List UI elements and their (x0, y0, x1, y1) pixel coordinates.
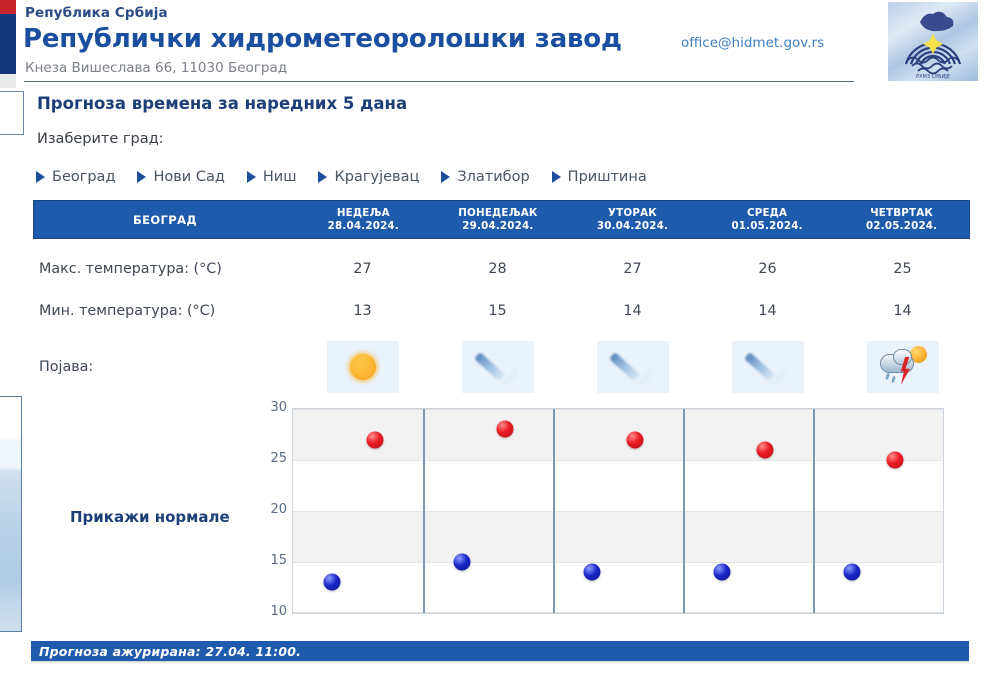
city-label: Београд (52, 169, 115, 185)
row-label: Макс. температура: (°C) (33, 261, 295, 277)
max-temp-value-1: 28 (430, 261, 565, 277)
chart-y-tick-label: 10 (259, 604, 287, 619)
arrow-right-icon (441, 171, 450, 183)
arrow-right-icon (318, 171, 327, 183)
min-temp-point-3 (714, 564, 731, 581)
day-date: 01.05.2024. (700, 220, 835, 233)
arrow-shaft (743, 352, 774, 381)
phenomena-cell-0 (295, 341, 430, 393)
city-link-novi-sad[interactable]: Нови Сад (137, 169, 224, 185)
min-temp-point-2 (584, 564, 601, 581)
raindrop-glyph (884, 373, 889, 381)
min-temp-value-2: 14 (565, 303, 700, 319)
diagonal-arrow-glyph (609, 347, 657, 387)
forecast-table: БЕОГРАД НЕДЕЉА 28.04.2024. ПОНЕДЕЉАК 29.… (33, 200, 970, 397)
page-title: Прогноза времена за наредних 5 дана (37, 94, 407, 113)
row-label: Мин. температура: (°C) (33, 303, 295, 319)
chart-y-tick-label: 30 (259, 400, 287, 415)
temperature-chart: 3025201510 (292, 408, 944, 614)
city-link-beograd[interactable]: Београд (36, 169, 115, 185)
diagonal-arrow-glyph (474, 347, 522, 387)
city-label: Златибор (457, 169, 529, 185)
thunderstorm-glyph (877, 345, 929, 389)
chart-day-separator (813, 409, 815, 613)
diagonal-arrow-glyph (744, 347, 792, 387)
table-row-min-temp: Мин. температура: (°C) 13 15 14 14 14 (33, 291, 970, 331)
max-temp-point-4 (886, 452, 903, 469)
day-header-4: ЧЕТВРТАК 02.05.2024. (834, 207, 969, 232)
arrow-right-icon (552, 171, 561, 183)
day-date: 28.04.2024. (296, 220, 431, 233)
loading-placeholder-icon (732, 341, 804, 393)
header-divider (24, 81, 854, 82)
min-temp-value-3: 14 (700, 303, 835, 319)
chart-day-separator (423, 409, 425, 613)
city-label: Приштина (568, 169, 647, 185)
thunderstorm-with-sun-icon (867, 341, 939, 393)
sun-glyph (350, 354, 376, 380)
day-name: ЧЕТВРТАК (834, 207, 969, 220)
table-city-header: БЕОГРАД (34, 213, 296, 227)
table-row-phenomena: Појава: (33, 337, 970, 397)
min-temp-point-4 (844, 564, 861, 581)
svg-text:РХМЗ СРБИЈЕ: РХМЗ СРБИЈЕ (916, 74, 950, 80)
day-name: УТОРАК (565, 207, 700, 220)
day-date: 30.04.2024. (565, 220, 700, 233)
day-header-2: УТОРАК 30.04.2024. (565, 207, 700, 232)
city-label: Ниш (263, 169, 297, 185)
day-header-1: ПОНЕДЕЉАК 29.04.2024. (431, 207, 566, 232)
max-temp-point-2 (626, 431, 643, 448)
max-temp-value-3: 26 (700, 261, 835, 277)
arrow-shaft (608, 352, 639, 381)
chart-day-separator (683, 409, 685, 613)
max-temp-point-1 (496, 421, 513, 438)
row-label: Појава: (33, 359, 295, 375)
max-temp-value-4: 25 (835, 261, 970, 277)
loading-placeholder-icon (597, 341, 669, 393)
max-temp-value-2: 27 (565, 261, 700, 277)
sunny-icon (327, 341, 399, 393)
choose-city-label: Изаберите град: (37, 131, 164, 147)
chart-gridline (293, 460, 943, 461)
contact-email-link[interactable]: office@hidmet.gov.rs (681, 35, 824, 51)
chart-gridline (293, 612, 943, 613)
chart-gridline (293, 409, 943, 410)
min-temp-point-1 (454, 554, 471, 571)
day-name: ПОНЕДЕЉАК (431, 207, 566, 220)
hidmet-emblem-svg: РХМЗ СРБИЈЕ (888, 2, 978, 81)
day-header-0: НЕДЕЉА 28.04.2024. (296, 207, 431, 232)
phenomena-cell-4 (835, 341, 970, 393)
site-header: Република Србија Републички хидрометеоро… (0, 0, 1000, 88)
min-temp-value-4: 14 (835, 303, 970, 319)
left-edge-panel-chart (0, 396, 22, 632)
arrow-right-icon (36, 171, 45, 183)
min-temp-value-1: 15 (430, 303, 565, 319)
day-date: 29.04.2024. (431, 220, 566, 233)
day-name: СРЕДА (700, 207, 835, 220)
chart-day-separator (553, 409, 555, 613)
min-temp-value-0: 13 (295, 303, 430, 319)
raindrop-glyph (890, 376, 895, 384)
left-edge-panel-top (0, 91, 24, 135)
day-date: 02.05.2024. (834, 220, 969, 233)
city-label: Крагујевац (334, 169, 419, 185)
day-header-3: СРЕДА 01.05.2024. (700, 207, 835, 232)
country-name: Република Србија (25, 5, 168, 21)
max-temp-point-3 (756, 441, 773, 458)
chart-band (293, 409, 943, 460)
city-label: Нови Сад (153, 169, 224, 185)
city-link-pristina[interactable]: Приштина (552, 169, 647, 185)
loading-placeholder-icon (462, 341, 534, 393)
institute-address: Кнеза Вишеслава 66, 11030 Београд (25, 60, 287, 76)
phenomena-cell-3 (700, 341, 835, 393)
phenomena-cell-1 (430, 341, 565, 393)
arrow-shaft (473, 352, 504, 381)
day-name: НЕДЕЉА (296, 207, 431, 220)
forecast-updated-text: Прогноза ажурирана: 27.04. 11:00. (31, 644, 301, 659)
max-temp-value-0: 27 (295, 261, 430, 277)
chart-y-tick-label: 20 (259, 502, 287, 517)
arrow-right-icon (247, 171, 256, 183)
city-link-kragujevac[interactable]: Крагујевац (318, 169, 419, 185)
max-temp-point-0 (366, 431, 383, 448)
forecast-table-header: БЕОГРАД НЕДЕЉА 28.04.2024. ПОНЕДЕЉАК 29.… (33, 200, 970, 239)
footer-shadow (31, 661, 969, 664)
forecast-updated-bar: Прогноза ажурирана: 27.04. 11:00. (31, 641, 969, 661)
show-normals-button[interactable]: Прикажи нормале (70, 508, 230, 526)
city-nav[interactable]: Београд Нови Сад Ниш Крагујевац Златибор… (36, 166, 669, 188)
table-row-max-temp: Макс. температура: (°C) 27 28 27 26 25 (33, 247, 970, 291)
chart-y-tick-label: 25 (259, 451, 287, 466)
chart-gridline (293, 511, 943, 512)
chart-gridline (293, 562, 943, 563)
chart-y-tick-label: 15 (259, 553, 287, 568)
city-link-nis[interactable]: Ниш (247, 169, 297, 185)
arrow-right-icon (137, 171, 146, 183)
city-link-zlatibor[interactable]: Златибор (441, 169, 529, 185)
min-temp-point-0 (324, 574, 341, 591)
phenomena-cell-2 (565, 341, 700, 393)
hidmet-emblem-icon: РХМЗ СРБИЈЕ (888, 2, 978, 81)
chart-band (293, 511, 943, 562)
institute-title: Републички хидрометеоролошки завод (23, 24, 622, 54)
